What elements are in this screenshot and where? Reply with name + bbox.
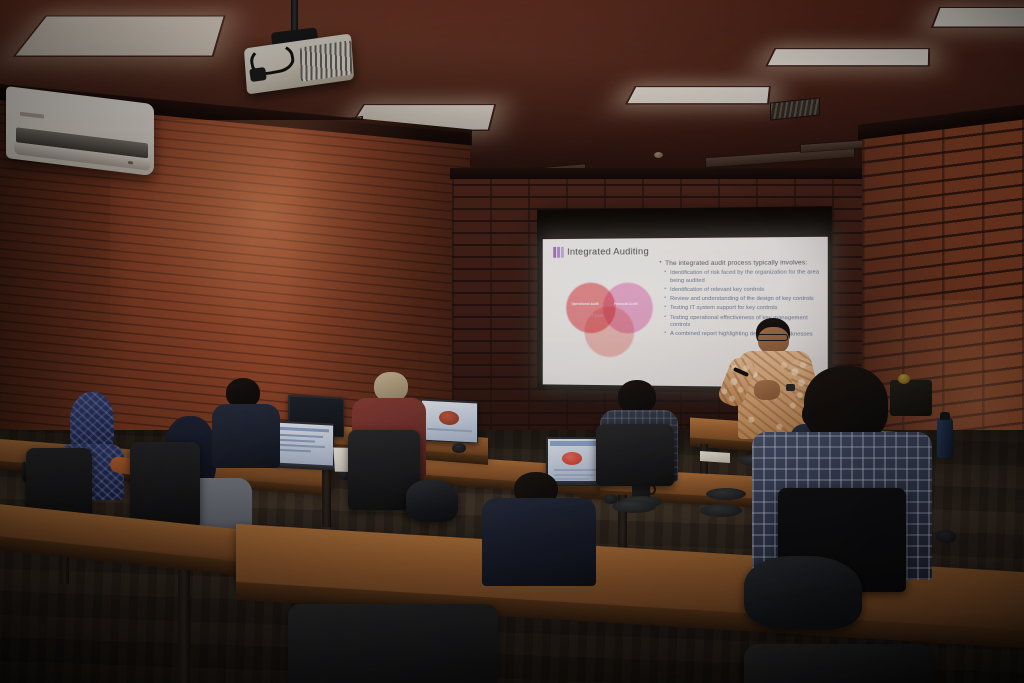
ac-indicator-led — [128, 161, 133, 165]
attendee-foreground-dark-jacket — [482, 472, 598, 582]
laptop-display — [422, 400, 477, 442]
slide-header: Integrated Auditing — [553, 246, 649, 258]
attendee-shirt — [212, 404, 280, 468]
bottle-cap — [940, 412, 950, 420]
page-text-line — [427, 427, 472, 431]
saucer-plate — [700, 504, 742, 517]
paper-note — [700, 451, 730, 463]
attendee-hair — [618, 380, 656, 414]
bullet-item: The integrated audit process typically i… — [659, 259, 821, 268]
venn-caption: IT Audit — [568, 314, 626, 318]
office-chair-foreground-right — [744, 644, 934, 683]
attendee-jacket — [482, 498, 596, 586]
office-chair-foreground-left — [288, 604, 498, 683]
page-text-line — [278, 426, 329, 432]
backpack-on-floor — [406, 480, 458, 522]
table-leg — [178, 570, 190, 683]
office-chair — [596, 424, 674, 486]
page-text-line — [278, 433, 323, 437]
page-logo-icon — [439, 410, 459, 425]
saucer-plate — [706, 488, 746, 500]
office-chair — [130, 442, 200, 528]
bullet-item: Testing IT system support for key contro… — [659, 305, 821, 313]
computer-mouse — [936, 530, 956, 543]
laptop-display — [274, 422, 333, 466]
black-bag-on-table — [744, 556, 862, 630]
page-text-line — [278, 438, 315, 442]
page-text-line — [278, 448, 311, 452]
purple-bars-icon — [553, 247, 563, 258]
attendee-dark-left — [212, 378, 282, 470]
page-logo-icon — [562, 452, 582, 465]
ac-brand-logo — [20, 112, 44, 119]
slide-title: Integrated Auditing — [567, 246, 649, 257]
water-bottle — [937, 418, 953, 458]
bullet-item: Identification of risk faced by the orga… — [659, 270, 821, 285]
projector-vent-grille — [300, 40, 353, 81]
eyeglasses-icon — [757, 334, 788, 341]
projector-lens — [249, 67, 267, 82]
wall-trim-back — [450, 168, 874, 179]
venn-label-right: Financial Audit — [608, 302, 643, 307]
saucer-plate — [612, 500, 656, 513]
laptop-back-right — [420, 398, 478, 443]
meeting-room-photo: Integrated Auditing Operational Audit Fi… — [0, 0, 1024, 683]
bullet-item: Review and understanding of the design o… — [659, 296, 821, 304]
bullet-item: Identification of relevant key controls — [659, 287, 821, 295]
venn-label-left: Operational Audit — [568, 302, 603, 307]
computer-mouse — [452, 443, 466, 453]
page-text-line — [278, 443, 325, 447]
